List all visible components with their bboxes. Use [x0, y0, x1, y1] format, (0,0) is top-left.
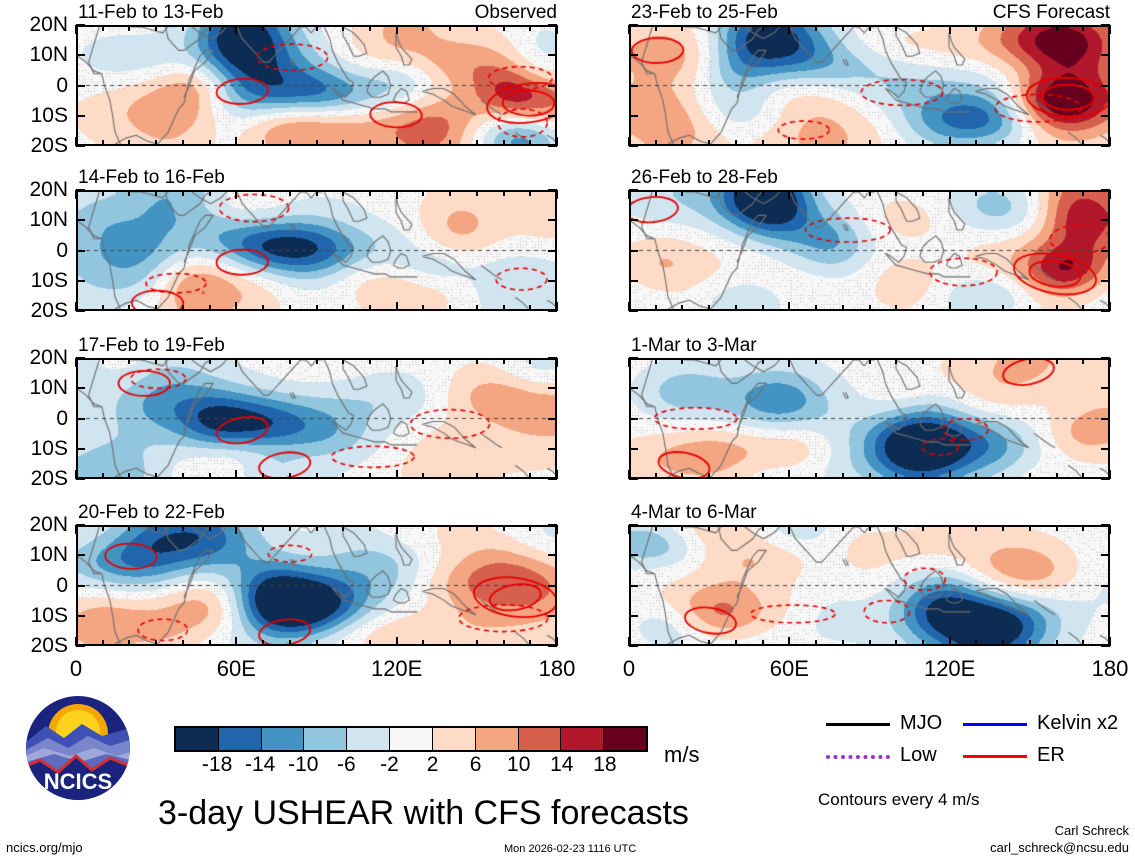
y-tick: [548, 448, 557, 450]
x-tick: [762, 190, 764, 196]
x-tick: [1056, 525, 1058, 531]
y-tick: [548, 554, 557, 556]
colorbar-swatch-9: [561, 728, 604, 750]
x-tick: [449, 25, 451, 31]
x-tick: [922, 640, 924, 646]
y-tick: [629, 524, 638, 526]
map-plot-7: [629, 358, 1110, 479]
x-tick: [815, 358, 817, 364]
x-tick: [681, 525, 683, 531]
x-tick: [75, 525, 77, 534]
map-plot-5: [629, 25, 1110, 146]
x-tick: [316, 305, 318, 311]
panel-title-2: 14-Feb to 16-Feb: [78, 168, 225, 187]
y-axis-label-20S: 20S: [0, 135, 68, 156]
map-plot-3: [76, 358, 557, 479]
contour-interval-note: Contours every 4 m/s: [818, 791, 980, 808]
x-tick: [922, 140, 924, 146]
x-tick: [708, 140, 710, 146]
x-tick: [815, 525, 817, 531]
x-tick: [869, 25, 871, 31]
y-tick: [76, 189, 85, 191]
x-tick: [556, 525, 558, 534]
x-tick: [128, 190, 130, 196]
x-tick: [209, 25, 211, 31]
x-axis-label-0: 0: [36, 658, 116, 680]
x-tick: [1029, 525, 1031, 531]
x-tick: [316, 140, 318, 146]
column-header-right: CFS Forecast: [993, 3, 1110, 22]
x-tick: [975, 358, 977, 364]
x-tick: [735, 25, 737, 31]
y-tick: [548, 387, 557, 389]
x-tick: [396, 358, 398, 367]
x-tick: [815, 473, 817, 479]
x-tick: [681, 305, 683, 311]
x-tick: [655, 305, 657, 311]
x-tick: [922, 525, 924, 531]
x-tick: [895, 525, 897, 531]
x-tick: [128, 358, 130, 364]
colorbar: [174, 726, 648, 752]
x-tick: [262, 640, 264, 646]
y-tick: [548, 54, 557, 56]
colorbar-label-14: 14: [538, 754, 586, 775]
x-tick: [342, 25, 344, 31]
x-tick: [869, 640, 871, 646]
x-tick: [422, 305, 424, 311]
x-tick: [842, 640, 844, 646]
x-tick: [869, 140, 871, 146]
x-tick: [476, 140, 478, 146]
x-tick: [422, 140, 424, 146]
legend-label-er: ER: [1037, 745, 1065, 765]
y-tick: [76, 645, 85, 647]
x-axis-label-0: 0: [589, 658, 669, 680]
x-tick: [815, 190, 817, 196]
ncics-logo-svg: NCICS: [24, 694, 132, 802]
x-tick: [235, 190, 237, 199]
x-tick: [128, 140, 130, 146]
x-tick: [235, 470, 237, 479]
x-tick: [342, 473, 344, 479]
x-tick: [949, 358, 951, 367]
x-tick: [396, 137, 398, 146]
x-tick: [788, 137, 790, 146]
map-canvas-1: [78, 27, 555, 144]
y-tick: [1101, 54, 1110, 56]
x-tick: [1109, 525, 1111, 534]
x-tick: [316, 190, 318, 196]
legend-label-mjo: MJO: [900, 713, 942, 733]
x-tick: [708, 190, 710, 196]
y-tick: [629, 310, 638, 312]
x-tick: [262, 525, 264, 531]
x-tick: [235, 302, 237, 311]
y-tick: [1101, 387, 1110, 389]
y-tick: [1101, 250, 1110, 252]
x-tick: [949, 525, 951, 534]
x-tick: [556, 190, 558, 199]
y-tick: [548, 250, 557, 252]
colorbar-label--10: -10: [279, 754, 327, 775]
x-tick: [949, 302, 951, 311]
y-tick: [629, 54, 638, 56]
x-tick: [708, 640, 710, 646]
x-tick: [842, 525, 844, 531]
x-tick: [102, 640, 104, 646]
x-axis-label-120E: 120E: [910, 658, 990, 680]
x-tick: [1082, 140, 1084, 146]
colorbar-label--14: -14: [236, 754, 284, 775]
legend-label-kelvin: Kelvin x2: [1037, 713, 1118, 733]
x-tick: [503, 25, 505, 31]
y-tick: [548, 310, 557, 312]
colorbar-label--6: -6: [322, 754, 370, 775]
map-canvas-5: [631, 27, 1108, 144]
x-axis-label-180: 180: [517, 658, 597, 680]
y-axis-label-10N: 10N: [0, 44, 68, 65]
x-tick: [895, 190, 897, 196]
ncics-logo: NCICS: [24, 694, 132, 807]
y-tick: [629, 357, 638, 359]
x-tick: [209, 525, 211, 531]
x-tick: [155, 305, 157, 311]
footer-site[interactable]: ncics.org/mjo: [6, 841, 83, 854]
x-tick: [1082, 190, 1084, 196]
colorbar-swatch-7: [476, 728, 519, 750]
y-tick: [548, 189, 557, 191]
x-tick: [102, 25, 104, 31]
column-header-left: Observed: [475, 3, 557, 22]
x-tick: [75, 25, 77, 34]
x-tick: [975, 25, 977, 31]
x-tick: [342, 140, 344, 146]
x-tick: [342, 525, 344, 531]
x-tick: [449, 525, 451, 531]
y-axis-label-20S: 20S: [0, 468, 68, 489]
x-tick: [503, 305, 505, 311]
x-tick: [503, 358, 505, 364]
y-tick: [1101, 280, 1110, 282]
y-axis-label-20N: 20N: [0, 514, 68, 535]
x-tick: [503, 473, 505, 479]
x-tick: [422, 525, 424, 531]
x-tick: [949, 637, 951, 646]
map-canvas-4: [78, 527, 555, 644]
x-tick: [895, 358, 897, 364]
x-tick: [155, 525, 157, 531]
x-tick: [1082, 525, 1084, 531]
map-plot-4: [76, 525, 557, 646]
y-tick: [76, 554, 85, 556]
x-tick: [975, 473, 977, 479]
y-tick: [1101, 524, 1110, 526]
x-tick: [681, 473, 683, 479]
y-tick: [1101, 85, 1110, 87]
y-tick: [1101, 24, 1110, 26]
x-tick: [842, 190, 844, 196]
x-tick: [1056, 473, 1058, 479]
x-tick: [369, 190, 371, 196]
y-tick: [1101, 418, 1110, 420]
x-tick: [503, 190, 505, 196]
x-tick: [708, 25, 710, 31]
x-tick: [102, 525, 104, 531]
x-tick: [922, 473, 924, 479]
map-canvas-2: [78, 192, 555, 309]
y-tick: [548, 85, 557, 87]
x-tick: [102, 140, 104, 146]
x-tick: [182, 140, 184, 146]
x-tick: [1082, 25, 1084, 31]
y-tick: [629, 189, 638, 191]
y-tick: [1101, 310, 1110, 312]
x-tick: [449, 473, 451, 479]
y-tick: [548, 478, 557, 480]
x-tick: [1002, 190, 1004, 196]
x-tick: [1029, 358, 1031, 364]
x-tick: [182, 190, 184, 196]
x-axis-label-60E: 60E: [196, 658, 276, 680]
y-axis-label-10S: 10S: [0, 270, 68, 291]
y-axis-label-20S: 20S: [0, 635, 68, 656]
x-tick: [788, 190, 790, 199]
x-tick: [128, 640, 130, 646]
y-tick: [1101, 189, 1110, 191]
colorbar-swatch-8: [519, 728, 562, 750]
y-tick: [629, 219, 638, 221]
x-tick: [815, 140, 817, 146]
x-axis-label-180: 180: [1070, 658, 1135, 680]
x-tick: [975, 190, 977, 196]
x-tick: [735, 473, 737, 479]
x-tick: [949, 470, 951, 479]
x-tick: [735, 140, 737, 146]
y-tick: [1101, 357, 1110, 359]
x-tick: [655, 140, 657, 146]
x-tick: [235, 137, 237, 146]
y-axis-label-10N: 10N: [0, 209, 68, 230]
x-tick: [1109, 25, 1111, 34]
x-tick: [529, 190, 531, 196]
x-tick: [655, 25, 657, 31]
y-tick: [548, 115, 557, 117]
colorbar-label--2: -2: [365, 754, 413, 775]
y-tick: [76, 478, 85, 480]
y-tick: [548, 615, 557, 617]
colorbar-label-2: 2: [409, 754, 457, 775]
x-tick: [735, 525, 737, 531]
legend-line-low: [826, 755, 890, 759]
panel-title-4: 20-Feb to 22-Feb: [78, 503, 225, 522]
x-tick: [788, 637, 790, 646]
x-tick: [788, 25, 790, 34]
x-tick: [655, 473, 657, 479]
x-tick: [262, 358, 264, 364]
x-tick: [735, 305, 737, 311]
x-tick: [1002, 473, 1004, 479]
x-tick: [155, 640, 157, 646]
x-tick: [1082, 473, 1084, 479]
x-tick: [476, 25, 478, 31]
x-tick: [128, 25, 130, 31]
x-tick: [422, 473, 424, 479]
x-tick: [209, 305, 211, 311]
x-tick: [1056, 305, 1058, 311]
x-tick: [316, 25, 318, 31]
x-tick: [476, 190, 478, 196]
x-tick: [262, 305, 264, 311]
x-tick: [396, 637, 398, 646]
x-tick: [735, 358, 737, 364]
y-tick: [629, 280, 638, 282]
x-tick: [342, 358, 344, 364]
x-tick: [869, 358, 871, 364]
x-tick: [449, 358, 451, 364]
x-tick: [316, 525, 318, 531]
y-tick: [76, 357, 85, 359]
x-tick: [975, 140, 977, 146]
x-tick: [503, 140, 505, 146]
x-tick: [708, 358, 710, 364]
x-tick: [369, 140, 371, 146]
x-tick: [869, 190, 871, 196]
footer-timestamp: Mon 2026-02-23 1116 UTC: [504, 843, 636, 856]
y-tick: [76, 115, 85, 117]
y-tick: [1101, 615, 1110, 617]
x-tick: [369, 640, 371, 646]
x-tick: [628, 190, 630, 199]
colorbar-swatch-1: [219, 728, 262, 750]
y-tick: [629, 115, 638, 117]
x-tick: [655, 640, 657, 646]
x-tick: [396, 470, 398, 479]
x-tick: [155, 190, 157, 196]
y-axis-label-20N: 20N: [0, 14, 68, 35]
x-tick: [1029, 190, 1031, 196]
x-tick: [1002, 25, 1004, 31]
y-tick: [629, 387, 638, 389]
x-axis-label-120E: 120E: [357, 658, 437, 680]
x-tick: [369, 25, 371, 31]
x-tick: [209, 640, 211, 646]
x-tick: [75, 358, 77, 367]
x-tick: [209, 190, 211, 196]
x-tick: [735, 640, 737, 646]
x-tick: [75, 190, 77, 199]
x-tick: [422, 640, 424, 646]
x-tick: [449, 640, 451, 646]
y-tick: [76, 418, 85, 420]
x-tick: [1056, 140, 1058, 146]
x-tick: [503, 525, 505, 531]
colorbar-label-6: 6: [452, 754, 500, 775]
x-tick: [1082, 358, 1084, 364]
y-tick: [629, 418, 638, 420]
x-tick: [529, 525, 531, 531]
x-tick: [503, 640, 505, 646]
x-tick: [895, 140, 897, 146]
x-tick: [449, 140, 451, 146]
x-tick: [422, 25, 424, 31]
x-tick: [262, 140, 264, 146]
x-tick: [342, 190, 344, 196]
x-tick: [476, 525, 478, 531]
x-tick: [869, 305, 871, 311]
x-tick: [316, 358, 318, 364]
x-tick: [681, 640, 683, 646]
y-tick: [76, 219, 85, 221]
y-tick: [76, 310, 85, 312]
x-tick: [895, 305, 897, 311]
x-tick: [922, 190, 924, 196]
colorbar-swatch-0: [176, 728, 219, 750]
x-tick: [476, 473, 478, 479]
y-tick: [548, 524, 557, 526]
legend-label-low: Low: [900, 745, 937, 765]
x-tick: [289, 358, 291, 364]
x-tick: [681, 190, 683, 196]
x-tick: [209, 358, 211, 364]
y-tick: [76, 585, 85, 587]
x-tick: [922, 305, 924, 311]
y-axis-label-0: 0: [0, 240, 68, 261]
y-axis-label-10S: 10S: [0, 105, 68, 126]
x-tick: [735, 190, 737, 196]
x-tick: [681, 140, 683, 146]
x-tick: [235, 637, 237, 646]
x-tick: [842, 473, 844, 479]
panel-title-1: 11-Feb to 13-Feb: [78, 3, 223, 22]
x-tick: [422, 358, 424, 364]
x-tick: [815, 305, 817, 311]
x-tick: [628, 25, 630, 34]
x-tick: [289, 473, 291, 479]
x-tick: [396, 190, 398, 199]
x-tick: [182, 525, 184, 531]
panel-title-6: 26-Feb to 28-Feb: [631, 168, 778, 187]
x-tick: [1056, 25, 1058, 31]
x-tick: [788, 470, 790, 479]
x-tick: [396, 25, 398, 34]
x-tick: [681, 25, 683, 31]
colorbar-unit-label: m/s: [664, 744, 699, 766]
x-tick: [922, 25, 924, 31]
footer-email[interactable]: carl_schreck@ncsu.edu: [990, 841, 1129, 854]
y-tick: [548, 357, 557, 359]
y-tick: [629, 85, 638, 87]
x-tick: [449, 190, 451, 196]
x-tick: [655, 190, 657, 196]
x-tick: [1002, 525, 1004, 531]
map-canvas-8: [631, 527, 1108, 644]
x-tick: [1002, 305, 1004, 311]
legend-line-kelvin: [963, 723, 1027, 726]
x-tick: [529, 640, 531, 646]
x-tick: [788, 358, 790, 367]
y-tick: [548, 24, 557, 26]
x-tick: [681, 358, 683, 364]
x-axis-label-60E: 60E: [749, 658, 829, 680]
y-axis-label-0: 0: [0, 75, 68, 96]
y-tick: [76, 145, 85, 147]
x-tick: [476, 305, 478, 311]
x-tick: [1082, 305, 1084, 311]
x-tick: [895, 640, 897, 646]
y-tick: [629, 585, 638, 587]
y-axis-label-10N: 10N: [0, 544, 68, 565]
